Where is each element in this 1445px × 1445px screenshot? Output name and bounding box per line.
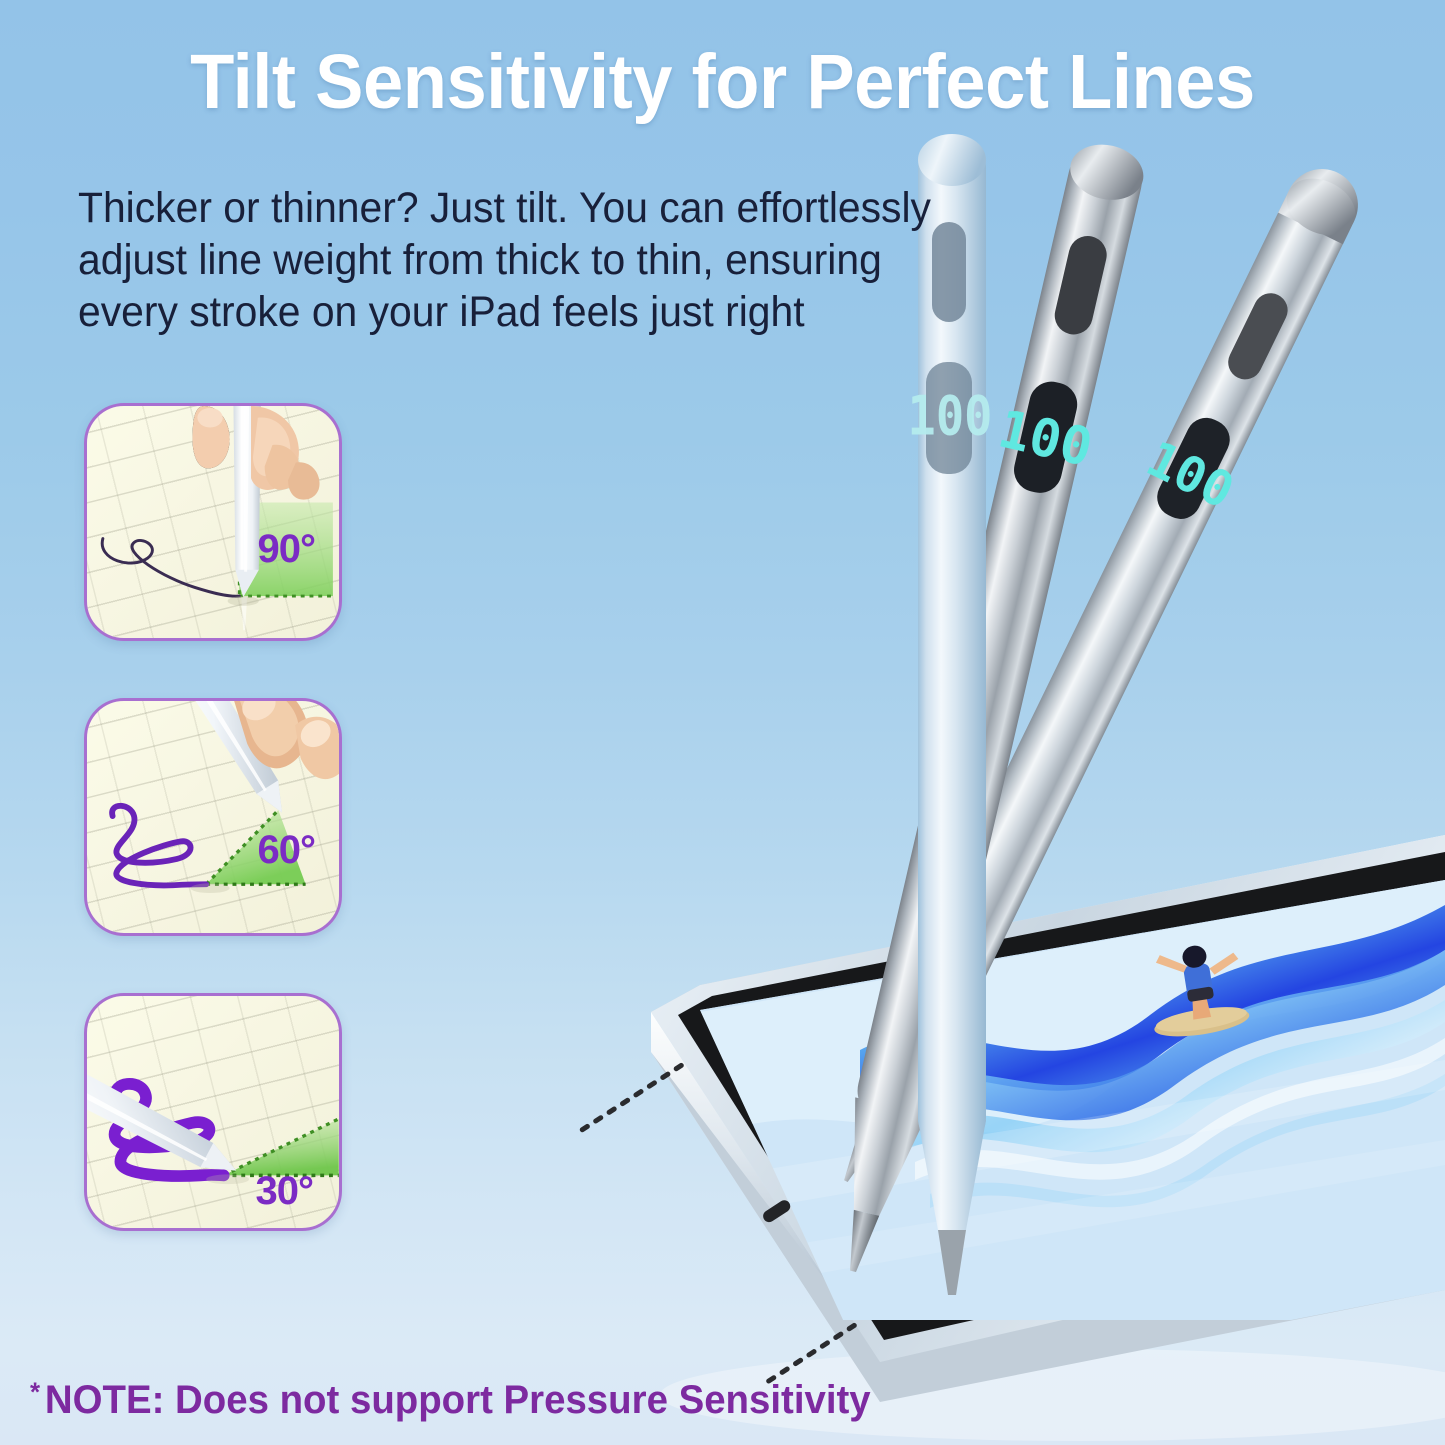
angle-card-60: 60° [84, 698, 342, 936]
description-line-2: adjust line weight from thick to thin, e… [78, 234, 914, 286]
note-text: NOTE: Does not support Pressure Sensitiv… [45, 1378, 871, 1422]
disclaimer-note: *NOTE: Does not support Pressure Sensiti… [30, 1377, 871, 1423]
description-line-1: Thicker or thinner? Just tilt. You can e… [78, 182, 914, 234]
angle-label-90: 90° [258, 527, 316, 572]
led-value-left: 100 [908, 385, 993, 448]
description-line-3: every stroke on your iPad feels just rig… [78, 286, 914, 338]
product-feature-banner: 100 100 100 Tilt Sensitivity for Perfect… [0, 0, 1445, 1445]
card-90-art [87, 406, 339, 638]
angle-card-30: 30° [84, 993, 342, 1231]
card-60-art [87, 701, 339, 933]
asterisk-icon: * [30, 1377, 40, 1407]
angle-label-30: 30° [256, 1169, 314, 1214]
page-title: Tilt Sensitivity for Perfect Lines [43, 38, 1401, 127]
stylus-left [918, 134, 986, 1295]
angle-label-60: 60° [258, 828, 316, 873]
angle-card-90: 90° [84, 403, 342, 641]
description-text: Thicker or thinner? Just tilt. You can e… [78, 182, 914, 338]
touch-button [932, 222, 966, 322]
